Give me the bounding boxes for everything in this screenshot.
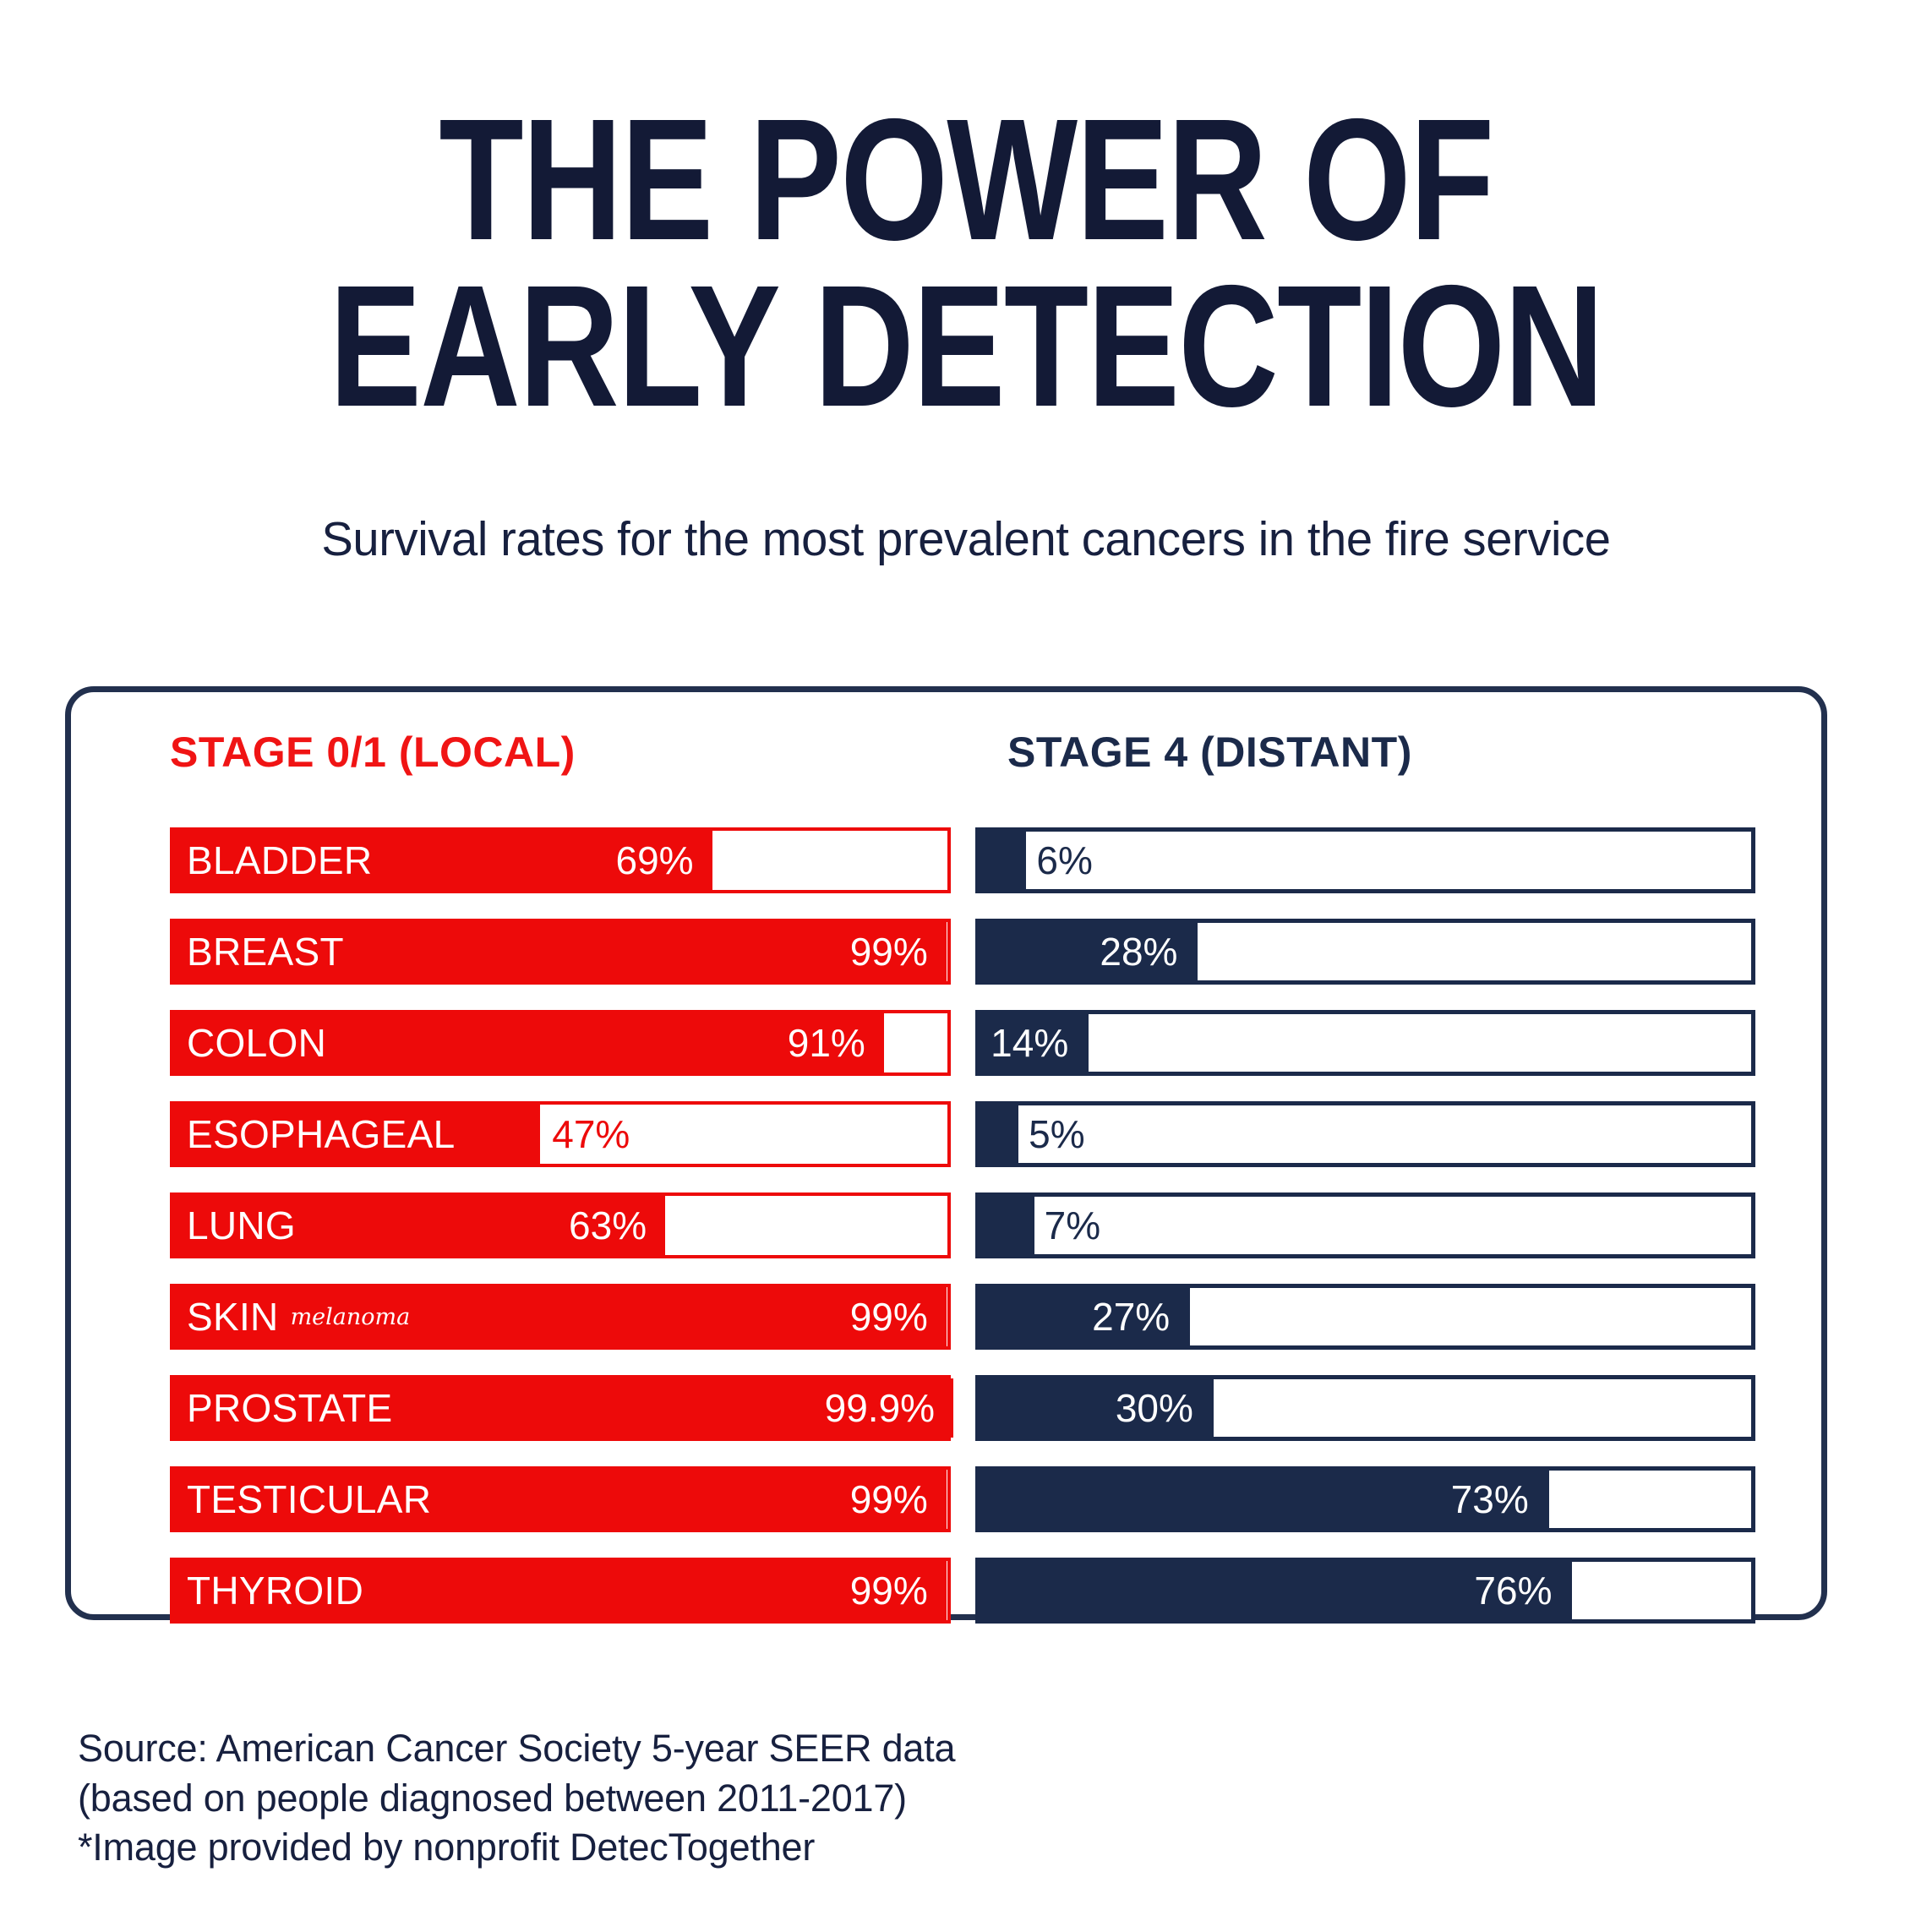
cancer-type-subtype: melanoma (291, 1304, 411, 1330)
local-value-label: 99% (850, 1561, 928, 1620)
cancer-type-name: TESTICULAR (187, 1476, 431, 1522)
local-bar-track: COLON91% (170, 1010, 951, 1076)
cancer-type-label: THYROID (187, 1561, 363, 1620)
local-value-label: 63% (569, 1196, 647, 1255)
chart-row: BREAST99%28% (71, 919, 1821, 985)
cancer-type-label: SKINmelanoma (187, 1287, 410, 1346)
distant-value-label: 14% (991, 1014, 1068, 1072)
chart-row: THYROID99%76% (71, 1558, 1821, 1624)
distant-value-label: 6% (1036, 832, 1092, 889)
distant-bar-track: 28% (975, 919, 1755, 985)
column-header-local: STAGE 0/1 (LOCAL) (170, 728, 576, 777)
cancer-type-name: COLON (187, 1020, 326, 1066)
local-value-label: 99% (850, 1287, 928, 1346)
distant-value-label: 30% (1116, 1379, 1193, 1437)
distant-bar-track: 76% (975, 1558, 1755, 1624)
cancer-type-name: PROSTATE (187, 1385, 393, 1431)
local-bar-track: BLADDER69% (170, 827, 951, 893)
local-bar-track: PROSTATE99.9% (170, 1375, 951, 1441)
cancer-type-name: SKIN (187, 1294, 279, 1340)
cancer-type-label: ESOPHAGEAL (187, 1105, 455, 1164)
distant-bar-fill (975, 1101, 1018, 1167)
local-value-label: 99.9% (825, 1378, 935, 1438)
cancer-type-name: THYROID (187, 1568, 363, 1613)
cancer-type-label: BREAST (187, 922, 344, 981)
distant-value-label: 7% (1045, 1197, 1100, 1254)
cancer-type-name: LUNG (187, 1203, 296, 1248)
local-value-label: 99% (850, 922, 928, 981)
distant-bar-track: 6% (975, 827, 1755, 893)
distant-value-label: 28% (1100, 923, 1177, 980)
column-headers: STAGE 0/1 (LOCAL) STAGE 4 (DISTANT) (71, 728, 1821, 795)
distant-value-label: 27% (1092, 1288, 1170, 1345)
local-bar-track: LUNG63% (170, 1192, 951, 1258)
cancer-type-name: BLADDER (187, 838, 372, 883)
infographic-title: THE POWER OF EARLY DETECTION (0, 0, 1932, 427)
title-line-1: THE POWER OF (194, 100, 1739, 261)
cancer-type-label: LUNG (187, 1196, 296, 1255)
distant-bar-track: 14% (975, 1010, 1755, 1076)
distant-bar-track: 73% (975, 1466, 1755, 1532)
distant-value-label: 73% (1451, 1471, 1529, 1528)
local-bar-track: SKINmelanoma99% (170, 1284, 951, 1350)
local-value-label: 47% (552, 1105, 630, 1164)
source-line-3: *Image provided by nonprofit DetecTogeth… (78, 1823, 955, 1873)
local-value-label: 91% (788, 1013, 865, 1072)
source-line-1: Source: American Cancer Society 5-year S… (78, 1724, 955, 1774)
distant-bar-track: 27% (975, 1284, 1755, 1350)
chart-row: COLON91%14% (71, 1010, 1821, 1076)
column-header-distant: STAGE 4 (DISTANT) (1007, 728, 1412, 777)
cancer-type-label: BLADDER (187, 831, 372, 890)
distant-bar-fill (975, 1192, 1034, 1258)
distant-bar-fill (975, 827, 1026, 893)
distant-value-label: 76% (1474, 1562, 1552, 1619)
chart-row: PROSTATE99.9%30% (71, 1375, 1821, 1441)
distant-bar-track: 7% (975, 1192, 1755, 1258)
chart-panel: STAGE 0/1 (LOCAL) STAGE 4 (DISTANT) BLAD… (65, 686, 1827, 1620)
cancer-type-name: ESOPHAGEAL (187, 1111, 455, 1157)
chart-row: LUNG63%7% (71, 1192, 1821, 1258)
distant-value-label: 5% (1029, 1105, 1084, 1163)
chart-row: TESTICULAR99%73% (71, 1466, 1821, 1532)
distant-bar-track: 30% (975, 1375, 1755, 1441)
source-note: Source: American Cancer Society 5-year S… (78, 1724, 955, 1873)
chart-row: ESOPHAGEAL47%5% (71, 1101, 1821, 1167)
local-bar-track: THYROID99% (170, 1558, 951, 1624)
cancer-type-label: COLON (187, 1013, 326, 1072)
distant-bar-track: 5% (975, 1101, 1755, 1167)
infographic-subtitle: Survival rates for the most prevalent ca… (14, 511, 1918, 567)
cancer-type-name: BREAST (187, 929, 344, 974)
chart-row: SKINmelanoma99%27% (71, 1284, 1821, 1350)
local-bar-track: BREAST99% (170, 919, 951, 985)
chart-rows: BLADDER69%6%BREAST99%28%COLON91%14%ESOPH… (71, 827, 1821, 1624)
local-value-label: 99% (850, 1470, 928, 1529)
chart-row: BLADDER69%6% (71, 827, 1821, 893)
cancer-type-label: PROSTATE (187, 1378, 393, 1438)
source-line-2: (based on people diagnosed between 2011-… (78, 1774, 955, 1824)
local-bar-track: ESOPHAGEAL47% (170, 1101, 951, 1167)
cancer-type-label: TESTICULAR (187, 1470, 431, 1529)
local-bar-track: TESTICULAR99% (170, 1466, 951, 1532)
local-value-label: 69% (615, 831, 693, 890)
title-line-2: EARLY DETECTION (194, 266, 1739, 428)
